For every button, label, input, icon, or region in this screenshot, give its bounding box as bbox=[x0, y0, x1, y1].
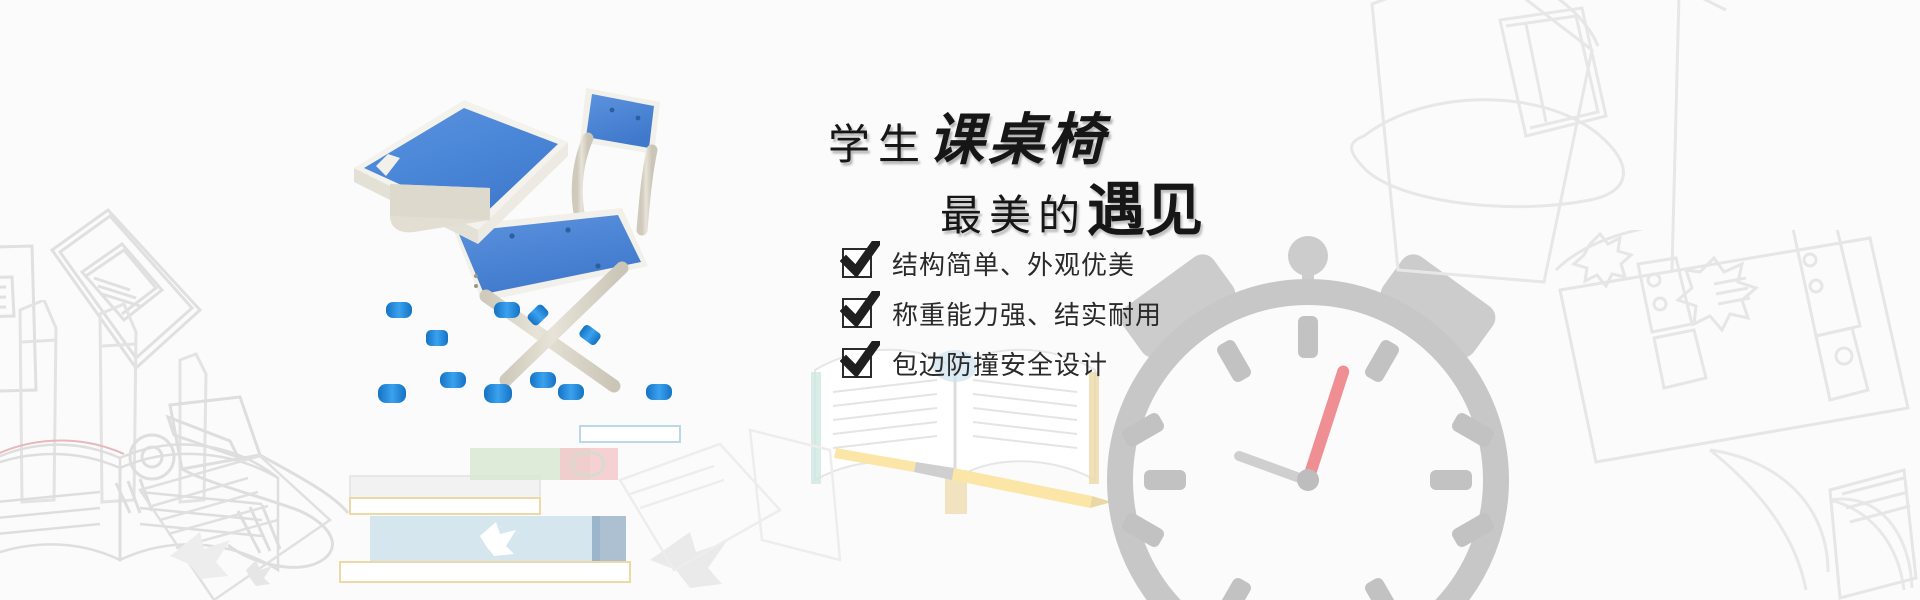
dove-icon bbox=[160, 520, 270, 590]
checkbox-check-icon bbox=[842, 298, 872, 328]
notebooks-line-art bbox=[0, 120, 250, 400]
headline-line1-prefix: 学生 bbox=[828, 120, 928, 169]
feature-label: 称重能力强、结实耐用 bbox=[892, 295, 1162, 332]
book-stack-line-art-right bbox=[1820, 460, 1920, 600]
checkbox-check-icon bbox=[842, 248, 872, 278]
student-desk-and-chair-photo bbox=[330, 80, 810, 440]
headline-line2-emphasis: 遇见 bbox=[1087, 176, 1203, 244]
headline-line-2: 最美的遇见 bbox=[940, 163, 1203, 247]
book-stack-illustration bbox=[330, 420, 690, 600]
backpack-line-art bbox=[1330, 0, 1750, 300]
feature-item: 结构简单、外观优美 bbox=[842, 247, 1162, 279]
product-banner: 学生课桌椅 最美的遇见 结构简单、外观优美 称重能力强、结实耐用 bbox=[0, 0, 1920, 600]
copy-block: 学生课桌椅 最美的遇见 结构简单、外观优美 称重能力强、结实耐用 bbox=[820, 95, 1380, 235]
open-page-line-art bbox=[130, 450, 450, 600]
open-book-line-art bbox=[0, 380, 380, 600]
center-pages-line-art bbox=[600, 420, 860, 600]
feature-label: 包边防撞安全设计 bbox=[892, 345, 1108, 382]
headline-line2-prefix: 最美的 bbox=[940, 191, 1087, 240]
feature-item: 称重能力强、结实耐用 bbox=[842, 297, 1162, 329]
checkbox-check-icon bbox=[842, 348, 872, 378]
feature-label: 结构简单、外观优美 bbox=[892, 245, 1135, 282]
feature-list: 结构简单、外观优美 称重能力强、结实耐用 包边防撞安全设计 bbox=[842, 247, 1162, 397]
satchel-line-art bbox=[1530, 230, 1920, 510]
leaf-line-art bbox=[1700, 440, 1920, 600]
headline: 学生课桌椅 最美的遇见 bbox=[820, 95, 1380, 235]
pencil-illustration bbox=[830, 432, 1130, 542]
paper-plane-icon bbox=[640, 520, 760, 600]
feature-item: 包边防撞安全设计 bbox=[842, 347, 1162, 379]
pencils-line-art bbox=[0, 300, 230, 560]
